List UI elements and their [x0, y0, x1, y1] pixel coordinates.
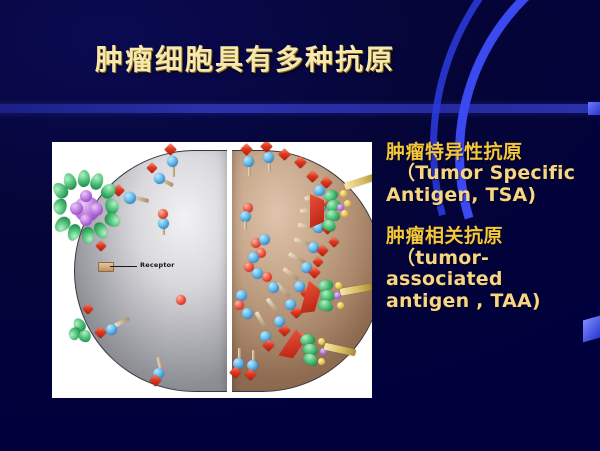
- antibody-cluster-core: [90, 203, 103, 216]
- glyco-marker: [341, 210, 348, 217]
- divider-glow: [0, 99, 600, 119]
- taa-english-line-3: antigen , TAA): [386, 291, 598, 313]
- antibody-petal: [52, 197, 68, 215]
- antibody-cluster-core: [70, 202, 83, 215]
- tsa-english-line-1: （Tumor Specific: [386, 163, 598, 185]
- taa-english-line-1: （tumor-: [386, 248, 598, 270]
- receptor-leader-line: [110, 266, 137, 267]
- antibody-petal: [77, 170, 90, 188]
- receptor-head-blue: [167, 156, 178, 167]
- antibody-cluster-core: [80, 190, 92, 202]
- glyco-marker: [337, 302, 344, 309]
- antigen-type-list: 肿瘤特异性抗原 （Tumor Specific Antigen, TSA) 肿瘤…: [386, 141, 598, 331]
- receptor-head-blue: [259, 234, 270, 245]
- receptor-head-blue: [243, 156, 254, 167]
- receptor-head-blue: [263, 152, 274, 163]
- glyco-core: [337, 204, 344, 211]
- diagram-canvas: Receptor: [52, 142, 372, 398]
- list-item-taa: 肿瘤相关抗原 （tumor- associated antigen , TAA): [386, 225, 598, 313]
- antibody-cluster-core: [80, 214, 92, 226]
- receptor-stalk: [244, 221, 247, 230]
- antigen-red-sphere: [262, 272, 272, 282]
- page-title: 肿瘤细胞具有多种抗原: [95, 38, 395, 78]
- tumor-cell-diagram: Receptor: [52, 142, 372, 398]
- tsa-chinese-label: 肿瘤特异性抗原: [386, 141, 598, 163]
- antigen-gold-rod: [344, 173, 372, 190]
- receptor-head-blue: [158, 218, 169, 229]
- receptor-head-blue: [124, 192, 136, 204]
- tsa-english-line-2: Antigen, TSA): [386, 185, 598, 207]
- glyco-marker: [340, 190, 347, 197]
- receptor-head-blue: [154, 173, 165, 184]
- antigen-red-sphere: [176, 295, 186, 305]
- antigen-red-sphere: [234, 300, 244, 310]
- glyco-marker: [318, 358, 325, 365]
- receptor-head-blue: [106, 324, 117, 335]
- antigen-red-sphere: [158, 209, 168, 219]
- taa-chinese-label: 肿瘤相关抗原: [386, 225, 598, 247]
- horizontal-divider-band: [0, 104, 600, 113]
- slide-canvas: 肿瘤细胞具有多种抗原 肿瘤特异性抗原 （Tumor Specific Antig…: [0, 0, 600, 451]
- receptor-label: Receptor: [140, 261, 175, 269]
- receptor-head-blue: [242, 308, 253, 319]
- list-item-tsa: 肿瘤特异性抗原 （Tumor Specific Antigen, TSA): [386, 141, 598, 207]
- receptor-head-blue: [268, 282, 279, 293]
- glyco-marker: [344, 200, 351, 207]
- divider-end-cap: [588, 102, 600, 115]
- taa-english-line-2: associated: [386, 269, 598, 291]
